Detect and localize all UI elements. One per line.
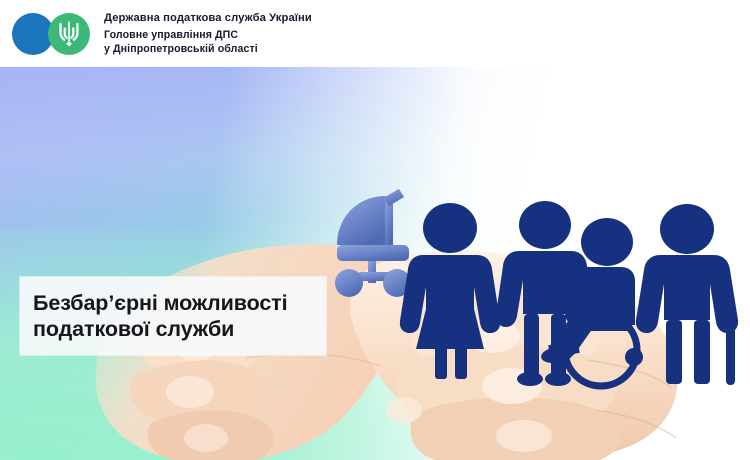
banner-title-card: Безбар’єрні можливості податкової служби — [20, 277, 326, 355]
organization-name: Державна податкова служба України — [104, 11, 750, 26]
department-line-2: у Дніпропетровській області — [104, 43, 750, 57]
people-pictograms — [0, 67, 750, 460]
elderly-person-with-cane-icon — [636, 204, 738, 385]
organization-logo[interactable] — [12, 11, 96, 57]
hero-banner: Безбар’єрні можливості податкової служби — [0, 67, 750, 460]
baby-pram-icon — [335, 189, 411, 297]
banner-page: Державна податкова служба України Головн… — [0, 0, 750, 460]
organization-titles: Державна податкова служба України Головн… — [104, 11, 750, 56]
ukraine-trident-icon — [48, 13, 90, 55]
department-line-1: Головне управління ДПС — [104, 29, 750, 43]
banner-title-line-2: податкової служби — [33, 316, 326, 342]
woman-figure-icon — [400, 203, 500, 379]
site-header: Державна податкова служба України Головн… — [0, 0, 750, 67]
banner-title-line-1: Безбар’єрні можливості — [33, 290, 326, 316]
